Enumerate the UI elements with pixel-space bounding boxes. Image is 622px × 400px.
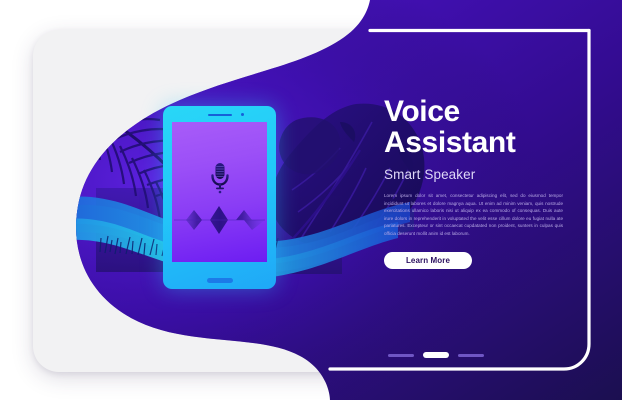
front-camera-icon — [241, 113, 244, 116]
learn-more-button[interactable]: Learn More — [384, 252, 472, 269]
phone-screen — [172, 122, 267, 262]
title-line-2: Assistant — [384, 127, 570, 158]
pagination-dot-1[interactable] — [388, 354, 414, 357]
hero-content: Voice Assistant Smart Speaker Lorem ipsu… — [384, 96, 570, 269]
body-paragraph: Lorem ipsum dolor sit amet, consectetur … — [384, 192, 563, 238]
pagination-dot-2-active[interactable] — [423, 352, 449, 358]
carousel-pagination[interactable] — [388, 352, 484, 358]
home-indicator[interactable] — [207, 278, 233, 283]
speaker-grille-icon — [208, 114, 232, 116]
page-title: Voice Assistant — [384, 96, 570, 158]
audio-waveform — [172, 205, 267, 240]
page-subtitle: Smart Speaker — [384, 167, 570, 182]
pagination-dot-3[interactable] — [458, 354, 484, 357]
screenshot-root: Voice Assistant Smart Speaker Lorem ipsu… — [0, 0, 622, 400]
title-line-1: Voice — [384, 95, 460, 128]
microphone-icon[interactable] — [209, 162, 231, 199]
phone-mockup — [163, 106, 276, 289]
